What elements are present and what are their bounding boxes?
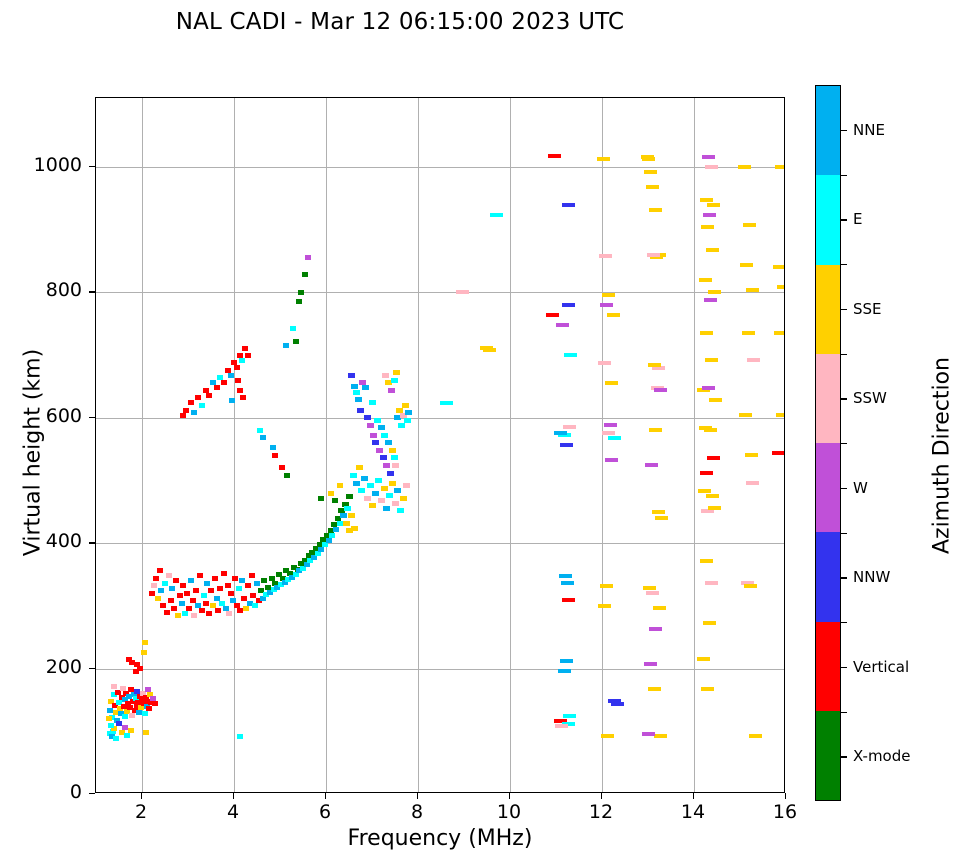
- data-point: [699, 278, 712, 282]
- data-point: [353, 390, 360, 395]
- data-point: [113, 736, 119, 741]
- data-point: [186, 606, 192, 611]
- data-point: [229, 398, 235, 403]
- data-point: [776, 413, 785, 417]
- data-point: [367, 423, 374, 428]
- data-point: [554, 431, 567, 435]
- data-point: [389, 448, 396, 453]
- data-point: [393, 370, 400, 375]
- data-point: [369, 503, 376, 508]
- data-point: [608, 436, 621, 440]
- data-point: [164, 610, 170, 615]
- data-point: [398, 423, 405, 428]
- data-point: [166, 573, 172, 578]
- colorbar-tick: [841, 488, 847, 489]
- data-point: [183, 408, 189, 413]
- x-axis-tick-label: 2: [111, 801, 171, 823]
- data-point: [440, 401, 453, 405]
- data-point: [240, 395, 246, 400]
- data-point: [744, 584, 757, 588]
- data-point: [326, 538, 332, 543]
- data-point: [348, 513, 355, 518]
- data-point: [351, 526, 358, 531]
- data-point: [382, 373, 389, 378]
- data-point: [556, 323, 569, 327]
- data-point: [642, 732, 655, 736]
- data-point: [654, 388, 667, 392]
- data-point: [647, 253, 660, 257]
- colorbar-label-x-mode: X-mode: [853, 747, 910, 765]
- data-point: [261, 578, 267, 583]
- data-point: [111, 684, 117, 689]
- data-point: [290, 326, 296, 331]
- data-point: [201, 593, 207, 598]
- data-point: [649, 428, 662, 432]
- data-point: [562, 303, 575, 307]
- data-point: [208, 588, 214, 593]
- data-point: [355, 397, 362, 402]
- data-point: [217, 586, 223, 591]
- y-axis-tick-label: 200: [22, 656, 82, 678]
- data-point: [372, 440, 379, 445]
- data-point: [228, 373, 234, 378]
- data-point: [559, 574, 572, 578]
- data-point: [777, 285, 785, 289]
- data-point: [652, 510, 665, 514]
- colorbar-boundary-tick: [841, 264, 847, 265]
- data-point: [361, 476, 368, 481]
- data-point: [746, 288, 759, 292]
- y-axis-tick: [89, 166, 95, 167]
- data-point: [260, 435, 266, 440]
- data-point: [357, 408, 364, 413]
- data-point: [279, 465, 285, 470]
- colorbar-tick: [841, 756, 847, 757]
- colorbar-band-w: [816, 443, 840, 532]
- data-point: [191, 613, 197, 618]
- data-point: [298, 290, 304, 295]
- data-point: [333, 527, 339, 532]
- data-point: [392, 463, 399, 468]
- data-point: [740, 263, 753, 267]
- data-point: [600, 303, 613, 307]
- data-point: [700, 331, 713, 335]
- data-point: [644, 662, 657, 666]
- colorbar-label-ssw: SSW: [853, 389, 887, 407]
- x-axis-tick-label: 10: [479, 801, 539, 823]
- data-point: [555, 724, 568, 728]
- data-point: [598, 604, 611, 608]
- data-point: [370, 433, 377, 438]
- colorbar-boundary-tick: [841, 712, 847, 713]
- data-point: [702, 386, 715, 390]
- data-point: [391, 378, 398, 383]
- data-point: [707, 203, 720, 207]
- data-point: [738, 165, 751, 169]
- data-point: [245, 583, 251, 588]
- data-point: [203, 601, 209, 606]
- data-point: [351, 384, 358, 389]
- data-point: [184, 591, 190, 596]
- data-point: [745, 453, 758, 457]
- data-point: [601, 734, 614, 738]
- data-point: [394, 488, 401, 493]
- data-point: [235, 378, 241, 383]
- data-point: [548, 154, 561, 158]
- colorbar-band-e: [816, 175, 840, 264]
- data-point: [107, 708, 113, 713]
- y-axis-tick: [89, 291, 95, 292]
- data-point: [708, 290, 721, 294]
- y-axis-tick: [89, 417, 95, 418]
- data-point: [318, 496, 324, 501]
- data-point: [193, 588, 199, 593]
- data-point: [236, 586, 242, 591]
- data-point: [128, 728, 134, 733]
- data-point: [646, 185, 659, 189]
- data-point: [742, 331, 755, 335]
- data-point: [707, 456, 720, 460]
- colorbar-label-nnw: NNW: [853, 568, 890, 586]
- data-point: [362, 385, 369, 390]
- data-point: [375, 478, 382, 483]
- data-point: [597, 157, 610, 161]
- data-point: [356, 465, 363, 470]
- data-point: [561, 581, 574, 585]
- data-point: [705, 358, 718, 362]
- data-point: [383, 506, 390, 511]
- data-point: [563, 425, 576, 429]
- data-point: [383, 463, 390, 468]
- data-point: [372, 491, 379, 496]
- data-point: [169, 586, 175, 591]
- data-point: [773, 265, 785, 269]
- data-point: [179, 601, 185, 606]
- data-point: [562, 598, 575, 602]
- colorbar-boundary-tick: [841, 622, 847, 623]
- data-point: [152, 701, 158, 706]
- data-point: [602, 293, 615, 297]
- data-point: [653, 606, 666, 610]
- data-point: [141, 650, 147, 655]
- data-point: [772, 451, 785, 455]
- data-point: [221, 571, 227, 576]
- data-point: [283, 343, 289, 348]
- data-point: [400, 496, 407, 501]
- data-point: [329, 533, 335, 538]
- data-point: [703, 621, 716, 625]
- data-point: [645, 463, 658, 467]
- colorbar-band-nnw: [816, 532, 840, 621]
- data-point: [137, 666, 143, 671]
- data-point: [177, 593, 183, 598]
- data-point: [364, 496, 371, 501]
- data-point: [284, 473, 290, 478]
- y-axis-tick: [89, 668, 95, 669]
- data-point: [206, 611, 212, 616]
- x-axis-tick: [601, 793, 602, 799]
- data-point: [206, 393, 212, 398]
- colorbar-label-nne: NNE: [853, 121, 885, 139]
- data-point: [700, 559, 713, 563]
- data-point: [747, 358, 760, 362]
- data-point: [604, 423, 617, 427]
- data-point: [332, 498, 338, 503]
- data-point: [293, 339, 299, 344]
- data-point: [646, 591, 659, 595]
- data-point: [367, 483, 374, 488]
- data-point: [376, 448, 383, 453]
- data-point: [226, 611, 232, 616]
- colorbar-band-ssw: [816, 354, 840, 443]
- data-point: [649, 627, 662, 631]
- data-point: [380, 455, 387, 460]
- data-point: [381, 486, 388, 491]
- colorbar-boundary-tick: [841, 175, 847, 176]
- data-point: [611, 702, 624, 706]
- data-point: [697, 657, 710, 661]
- data-point: [225, 583, 231, 588]
- data-point: [180, 583, 186, 588]
- data-point: [562, 203, 575, 207]
- data-point: [378, 498, 385, 503]
- data-point: [700, 198, 713, 202]
- colorbar-band-vertical: [816, 622, 840, 711]
- x-axis-tick-label: 8: [387, 801, 447, 823]
- scatter-data-layer: [96, 98, 784, 792]
- data-point: [705, 581, 718, 585]
- ionogram-plot-area: [95, 97, 785, 793]
- data-point: [708, 506, 721, 510]
- data-point: [242, 346, 248, 351]
- data-point: [272, 453, 278, 458]
- data-point: [168, 598, 174, 603]
- data-point: [389, 481, 396, 486]
- data-point: [221, 380, 227, 385]
- colorbar-band-sse: [816, 265, 840, 354]
- data-point: [146, 706, 152, 711]
- data-point: [706, 494, 719, 498]
- data-point: [358, 488, 365, 493]
- data-point: [234, 365, 240, 370]
- colorbar-tick: [841, 667, 847, 668]
- data-point: [237, 388, 243, 393]
- data-point: [245, 353, 251, 358]
- x-axis-title: Frequency (MHz): [95, 826, 785, 851]
- data-point: [774, 331, 785, 335]
- x-axis-tick: [693, 793, 694, 799]
- data-point: [122, 714, 128, 719]
- data-point: [739, 413, 752, 417]
- colorbar-boundary-tick: [841, 443, 847, 444]
- data-point: [191, 410, 197, 415]
- x-axis-tick: [509, 793, 510, 799]
- data-point: [654, 734, 667, 738]
- data-point: [158, 588, 164, 593]
- data-point: [340, 513, 347, 518]
- y-axis-tick-label: 1000: [22, 154, 82, 176]
- x-axis-tick: [417, 793, 418, 799]
- data-point: [392, 501, 399, 506]
- data-point: [142, 711, 148, 716]
- data-point: [705, 165, 718, 169]
- data-point: [346, 494, 353, 499]
- data-point: [490, 213, 503, 217]
- data-point: [600, 584, 613, 588]
- x-axis-tick-label: 4: [203, 801, 263, 823]
- data-point: [171, 606, 177, 611]
- data-point: [749, 734, 762, 738]
- colorbar-label-w: W: [853, 479, 868, 497]
- x-axis-tick-label: 6: [295, 801, 355, 823]
- colorbar-band-x-mode: [816, 711, 840, 800]
- data-point: [348, 373, 355, 378]
- x-axis-tick: [325, 793, 326, 799]
- data-point: [648, 363, 661, 367]
- data-point: [397, 508, 404, 513]
- data-point: [402, 403, 409, 408]
- data-point: [106, 716, 112, 721]
- data-point: [232, 576, 238, 581]
- data-point: [599, 254, 612, 258]
- data-point: [243, 606, 249, 611]
- data-point: [328, 491, 334, 496]
- data-point: [305, 255, 311, 260]
- data-point: [188, 400, 194, 405]
- data-point: [558, 669, 571, 673]
- data-point: [237, 734, 243, 739]
- data-point: [387, 471, 394, 476]
- y-axis-tick: [89, 793, 95, 794]
- data-point: [182, 611, 188, 616]
- data-point: [386, 493, 393, 498]
- data-point: [374, 418, 381, 423]
- data-point: [195, 395, 201, 400]
- colorbar-boundary-tick: [841, 533, 847, 534]
- data-point: [129, 713, 135, 718]
- azimuth-colorbar: [815, 85, 841, 801]
- data-point: [704, 298, 717, 302]
- data-point: [746, 481, 759, 485]
- data-point: [122, 725, 128, 730]
- data-point: [173, 578, 179, 583]
- data-point: [318, 547, 324, 552]
- data-point: [404, 418, 411, 423]
- data-point: [257, 428, 263, 433]
- data-point: [706, 248, 719, 252]
- data-point: [252, 603, 258, 608]
- data-point: [151, 583, 157, 588]
- data-point: [560, 443, 573, 447]
- x-axis-tick: [233, 793, 234, 799]
- data-point: [641, 155, 654, 159]
- colorbar-tick: [841, 309, 847, 310]
- data-point: [564, 353, 577, 357]
- data-point: [204, 581, 210, 586]
- y-axis-tick-label: 0: [22, 781, 82, 803]
- data-point: [602, 431, 615, 435]
- colorbar-tick: [841, 398, 847, 399]
- data-point: [480, 346, 493, 350]
- data-point: [743, 223, 756, 227]
- data-point: [249, 573, 255, 578]
- data-point: [388, 388, 395, 393]
- data-point: [344, 506, 351, 511]
- data-point: [343, 521, 350, 526]
- data-point: [162, 581, 168, 586]
- data-point: [701, 687, 714, 691]
- data-point: [143, 730, 149, 735]
- data-point: [155, 596, 161, 601]
- data-point: [709, 398, 722, 402]
- colorbar-label-vertical: Vertical: [853, 658, 909, 676]
- data-point: [296, 299, 302, 304]
- data-point: [704, 428, 717, 432]
- data-point: [302, 272, 308, 277]
- colorbar-tick: [841, 130, 847, 131]
- x-axis-tick: [785, 793, 786, 799]
- data-point: [153, 576, 159, 581]
- data-point: [254, 581, 260, 586]
- colorbar-tick: [841, 577, 847, 578]
- data-point: [560, 659, 573, 663]
- data-point: [702, 155, 715, 159]
- data-point: [643, 586, 656, 590]
- data-point: [391, 455, 398, 460]
- x-axis-tick-label: 16: [755, 801, 815, 823]
- data-point: [381, 433, 388, 438]
- data-point: [199, 608, 205, 613]
- y-axis-title: Virtual height (km): [21, 303, 46, 603]
- colorbar-label-e: E: [853, 210, 862, 228]
- data-point: [775, 165, 785, 169]
- data-point: [644, 170, 657, 174]
- data-point: [605, 381, 618, 385]
- data-point: [563, 714, 576, 718]
- data-point: [214, 385, 220, 390]
- data-point: [701, 225, 714, 229]
- data-point: [142, 640, 148, 645]
- data-point: [598, 361, 611, 365]
- data-point: [157, 568, 163, 573]
- colorbar-boundary-tick: [841, 354, 847, 355]
- data-point: [160, 603, 166, 608]
- data-point: [698, 489, 711, 493]
- data-point: [403, 483, 410, 488]
- data-point: [175, 613, 181, 618]
- data-point: [700, 471, 713, 475]
- data-point: [270, 445, 276, 450]
- colorbar-label-sse: SSE: [853, 300, 882, 318]
- data-point: [197, 573, 203, 578]
- data-point: [605, 458, 618, 462]
- data-point: [649, 208, 662, 212]
- data-point: [129, 660, 135, 665]
- x-axis-tick-label: 14: [663, 801, 723, 823]
- data-point: [378, 425, 385, 430]
- data-point: [228, 591, 234, 596]
- data-point: [188, 578, 194, 583]
- data-point: [239, 358, 245, 363]
- data-point: [655, 516, 668, 520]
- data-point: [703, 213, 716, 217]
- data-point: [364, 415, 371, 420]
- page-title: NAL CADI - Mar 12 06:15:00 2023 UTC: [0, 9, 800, 35]
- data-point: [369, 400, 376, 405]
- data-point: [337, 483, 343, 488]
- data-point: [405, 410, 412, 415]
- x-axis-tick: [141, 793, 142, 799]
